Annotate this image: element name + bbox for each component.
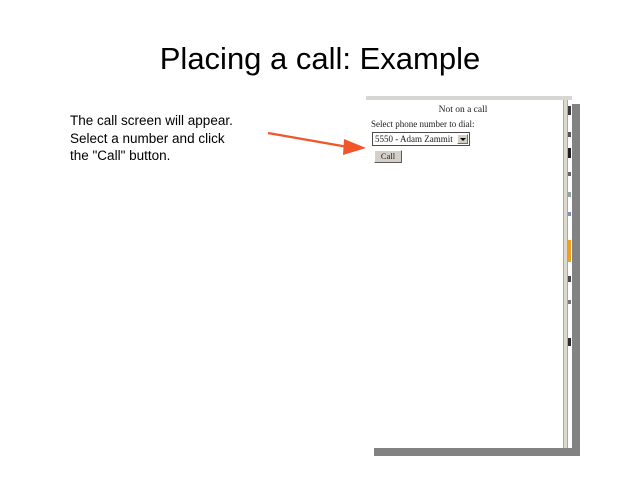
call-screen-content: Not on a call Select phone number to dia… (366, 100, 560, 448)
scrollbar-tick (568, 338, 571, 346)
scrollbar-tick (568, 276, 571, 282)
call-button[interactable]: Call (374, 150, 402, 163)
scrollbar-tick (568, 240, 571, 262)
annotation-arrow-icon (262, 122, 372, 160)
call-button-label: Call (375, 151, 401, 162)
scrollbar-tick (568, 132, 571, 137)
body-line-1: The call screen will appear. (70, 112, 270, 130)
scrollbar-tick (568, 300, 571, 304)
phone-number-select[interactable]: 5550 - Adam Zammit (372, 132, 470, 146)
scrollbar-tick (568, 172, 571, 176)
scrollbar-track[interactable] (563, 100, 568, 448)
arrow-head (343, 139, 366, 155)
embedded-app-screenshot: Not on a call Select phone number to dia… (366, 96, 572, 448)
scrollbar-tick (568, 192, 571, 197)
call-status-text: Not on a call (366, 105, 560, 116)
slide-body-text: The call screen will appear. Select a nu… (70, 112, 270, 165)
page-title: Placing a call: Example (0, 40, 640, 78)
arrow-shaft (268, 133, 348, 147)
slide-canvas: { "slide": { "title": "Placing a call: E… (0, 0, 640, 480)
phone-select-selected-value: 5550 - Adam Zammit (375, 134, 453, 145)
app-vertical-scrollbar[interactable] (560, 100, 572, 448)
body-line-3: the "Call" button. (70, 147, 270, 165)
app-window-frame: Not on a call Select phone number to dia… (366, 96, 572, 448)
phone-select-label: Select phone number to dial: (371, 119, 474, 130)
scrollbar-tick (568, 106, 571, 115)
chevron-down-icon[interactable] (457, 134, 468, 144)
scrollbar-tick (568, 148, 571, 158)
scrollbar-tick (568, 212, 571, 216)
body-line-2: Select a number and click (70, 130, 270, 148)
